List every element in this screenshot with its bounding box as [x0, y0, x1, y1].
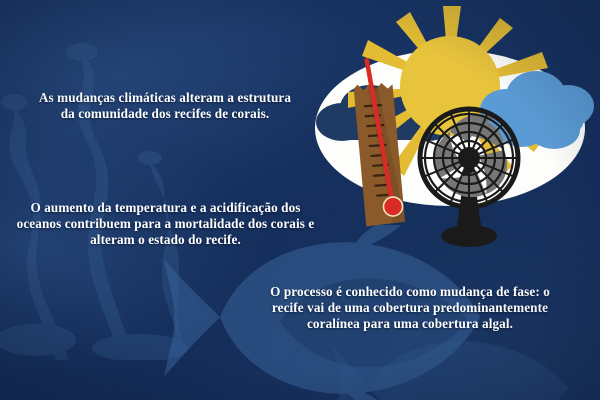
- heat-illustration: [300, 0, 600, 250]
- caption-text-1: As mudanças climáticas alteram a estrutu…: [34, 90, 296, 122]
- infographic-canvas: As mudanças climáticas alteram a estrutu…: [0, 0, 600, 400]
- caption-text-2: O aumento da temperatura e a acidificaçã…: [8, 200, 323, 248]
- caption-text-3: O processo é conhecido como mudança de f…: [268, 284, 552, 332]
- fish-silhouette-small: [330, 330, 580, 400]
